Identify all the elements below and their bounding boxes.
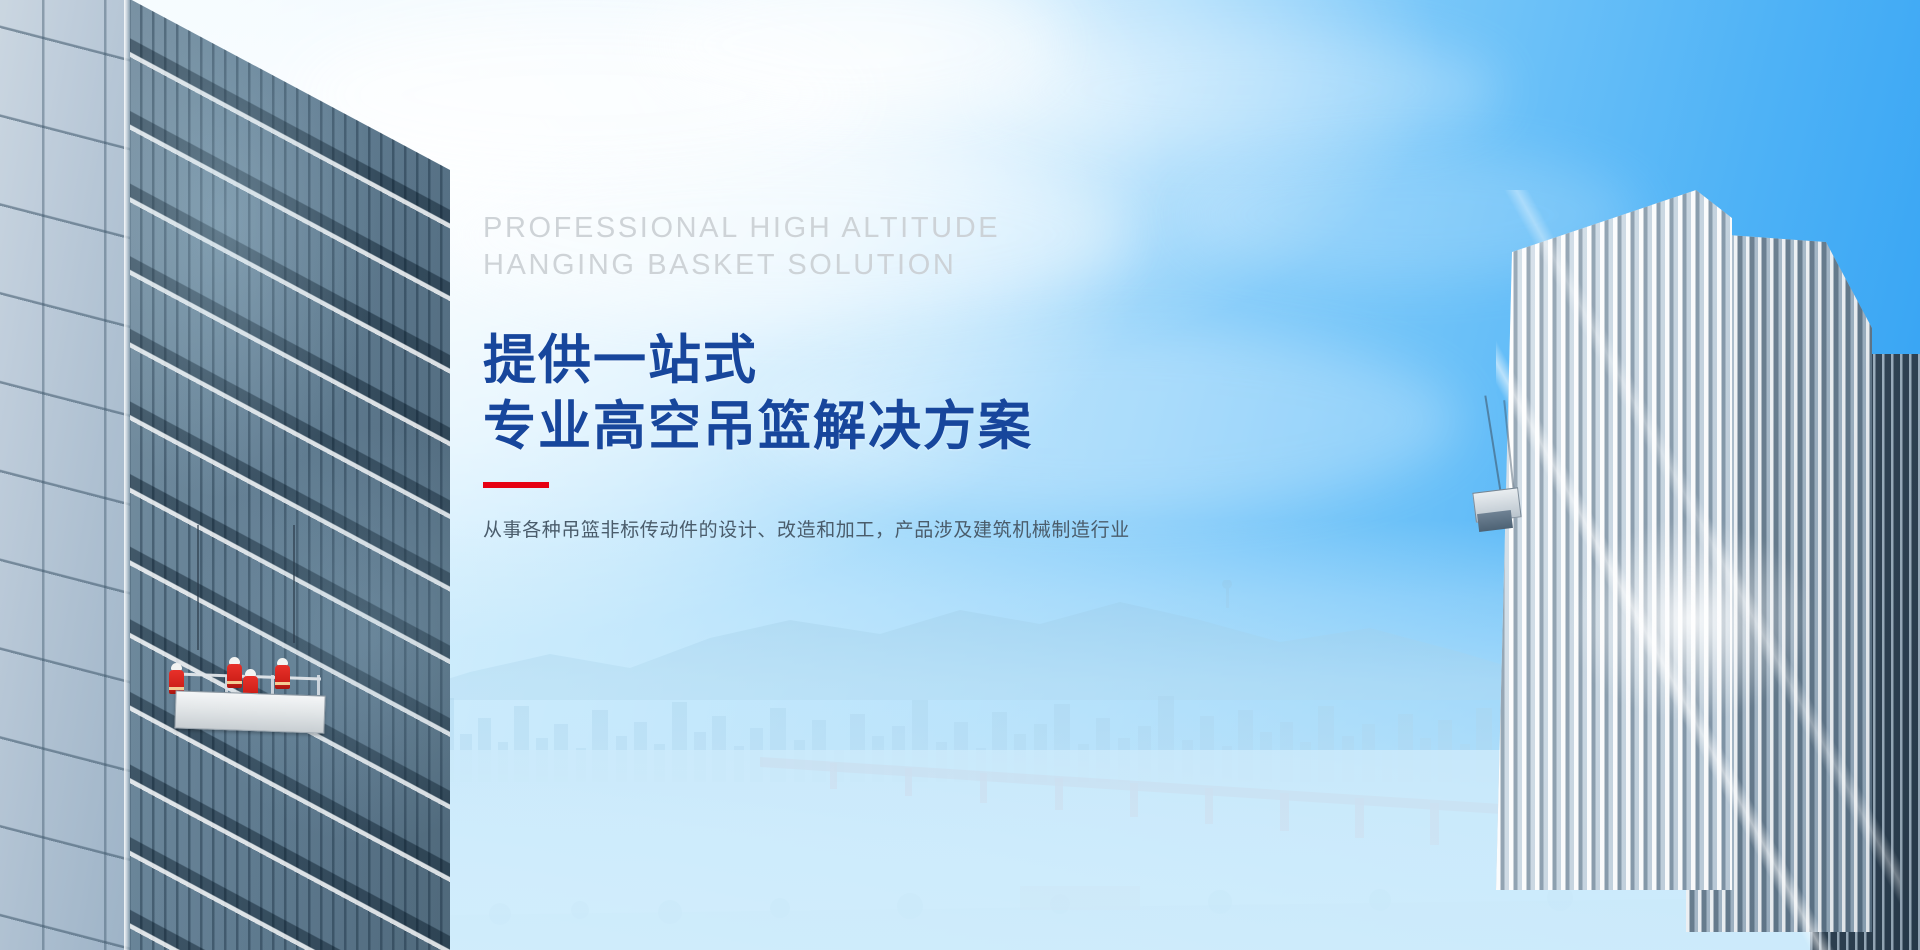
hi-vis-stripe bbox=[275, 682, 290, 685]
suspended-gondola bbox=[175, 645, 325, 745]
tower-panel-seams bbox=[0, 0, 130, 950]
gondola-platform bbox=[174, 690, 325, 733]
worker bbox=[169, 663, 184, 693]
accent-divider bbox=[483, 482, 549, 488]
suspension-rope bbox=[1484, 395, 1501, 492]
page-title: 提供一站式 专业高空吊篮解决方案 bbox=[483, 328, 1383, 460]
worker bbox=[275, 658, 290, 688]
gondola-underside bbox=[1477, 510, 1513, 532]
gondola-post bbox=[271, 675, 274, 695]
gondola-post bbox=[317, 675, 320, 695]
tower-glass-reflection bbox=[128, 0, 450, 950]
banner-description: 从事各种吊篮非标传动件的设计、改造和加工，产品涉及建筑机械制造行业 bbox=[483, 517, 1383, 545]
right-faceted-tower bbox=[1450, 190, 1920, 950]
worker bbox=[227, 657, 242, 687]
worker-jacket bbox=[275, 665, 290, 689]
secondary-gondola bbox=[1474, 490, 1520, 540]
sun-glare bbox=[1570, 520, 1810, 720]
left-glass-tower bbox=[0, 0, 450, 950]
banner-copy: PROFESSIONAL HIGH ALTITUDE HANGING BASKE… bbox=[483, 210, 1383, 545]
hero-banner: PROFESSIONAL HIGH ALTITUDE HANGING BASKE… bbox=[0, 0, 1920, 950]
tower-corner-edge bbox=[124, 0, 130, 950]
suspension-rope bbox=[197, 525, 199, 650]
worker-jacket bbox=[227, 664, 242, 688]
suspension-rope bbox=[293, 525, 295, 643]
hi-vis-stripe bbox=[227, 681, 242, 684]
english-subheading: PROFESSIONAL HIGH ALTITUDE HANGING BASKE… bbox=[483, 210, 1383, 284]
cloud bbox=[980, 30, 1500, 150]
